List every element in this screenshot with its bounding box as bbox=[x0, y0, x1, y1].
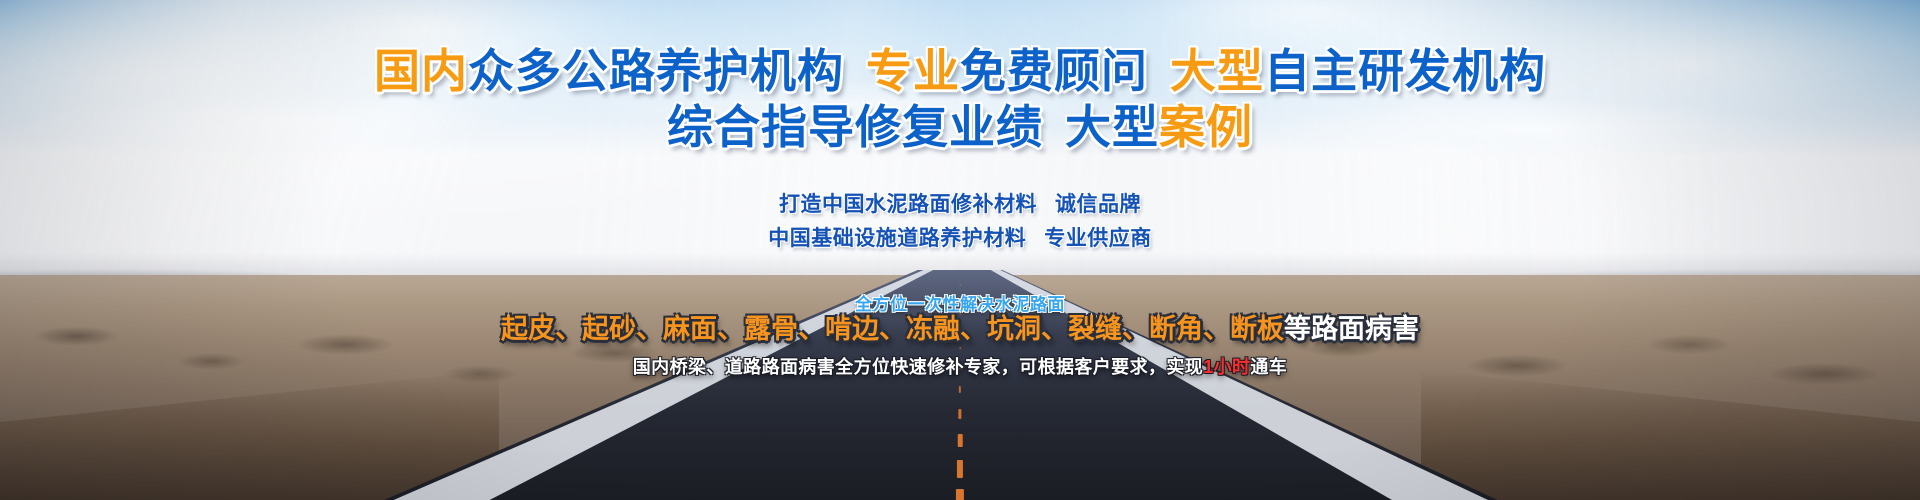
headline-seg-zhuanye: 专业 bbox=[866, 45, 960, 97]
subtitle-line-2: 中国基础设施道路养护材料专业供应商 bbox=[0, 228, 1920, 249]
headline-seg-zonghe: 综合指导修复业绩 bbox=[667, 101, 1043, 153]
subtitle-2-main: 中国基础设施道路养护材料 bbox=[768, 227, 1026, 250]
promo-defect-list: 起皮、起砂、麻面、露骨、啃边、冻融、坑洞、裂缝、断角、断板等路面病害 bbox=[0, 316, 1920, 343]
headline-line-2: 综合指导修复业绩大型案例 bbox=[0, 104, 1920, 150]
promo-footer-text: 国内桥梁、道路路面病害全方位快速修补专家，可根据客户要求，实现1小时通车 bbox=[0, 358, 1920, 376]
promo-foot-highlight: 1小时 bbox=[1203, 357, 1250, 377]
headline-line-1: 国内众多公路养护机构专业免费顾问大型自主研发机构 bbox=[0, 48, 1920, 94]
headline-seg-daxing: 大型 bbox=[1170, 45, 1264, 97]
defect-suffix: 等路面病害 bbox=[1284, 314, 1419, 344]
headline-seg-zizhu: 自主研发机构 bbox=[1264, 45, 1546, 97]
promo-foot-tail: 通车 bbox=[1250, 357, 1287, 377]
headline-seg-guonei: 国内 bbox=[374, 45, 468, 97]
promo-foot-lead: 国内桥梁、道路路面病害全方位快速修补专家，可根据客户要求，实现 bbox=[633, 357, 1203, 377]
subtitle-line-1: 打造中国水泥路面修补材料诚信品牌 bbox=[0, 194, 1920, 215]
headline-seg-mianfei: 免费顾问 bbox=[960, 45, 1148, 97]
banner-copy: 国内众多公路养护机构专业免费顾问大型自主研发机构 综合指导修复业绩大型案例 打造… bbox=[0, 0, 1920, 500]
subtitle-1-main: 打造中国水泥路面修补材料 bbox=[779, 193, 1037, 216]
subtitle-1-tag: 诚信品牌 bbox=[1055, 193, 1141, 216]
subtitle-2-tag: 专业供应商 bbox=[1044, 227, 1152, 250]
defect-items: 起皮、起砂、麻面、露骨、啃边、冻融、坑洞、裂缝、断角、断板 bbox=[501, 314, 1284, 344]
headline-seg-daxing-2: 大型 bbox=[1065, 101, 1159, 153]
promo-banner: 国内众多公路养护机构专业免费顾问大型自主研发机构 综合指导修复业绩大型案例 打造… bbox=[0, 0, 1920, 500]
headline-seg-anli: 案例 bbox=[1159, 101, 1253, 153]
headline-seg-zhongduo: 众多公路养护机构 bbox=[468, 45, 844, 97]
promo-kicker-text: 全方位一次性解决水泥路面 bbox=[0, 296, 1920, 313]
